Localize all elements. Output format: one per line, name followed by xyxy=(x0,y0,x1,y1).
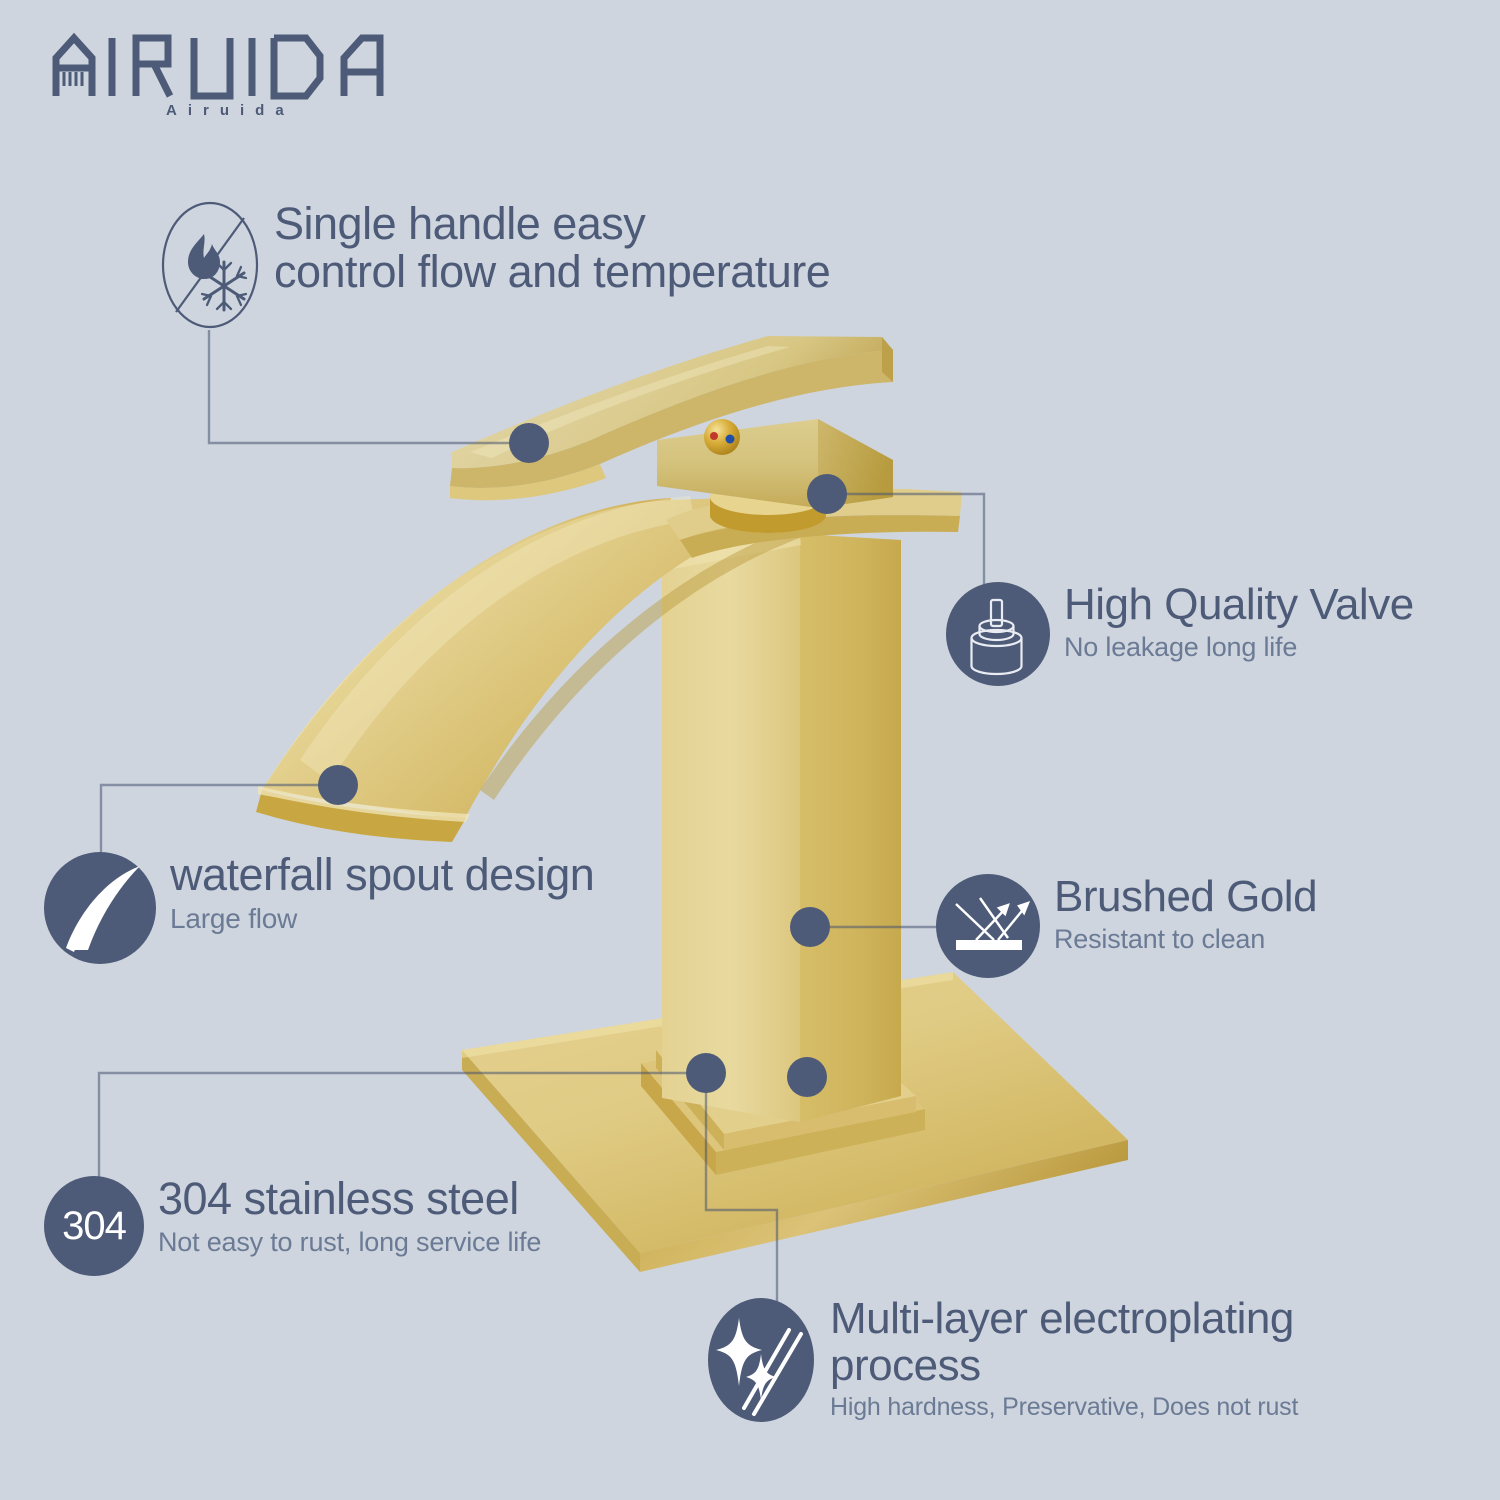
callout-text: High Quality Valve No leakage long life xyxy=(1050,582,1414,662)
wire-steel xyxy=(99,1073,706,1184)
callout-text: waterfall spout design Large flow xyxy=(156,852,594,934)
callout-subtitle: Large flow xyxy=(170,903,594,934)
waterfall-stream-icon xyxy=(44,852,156,969)
callout-anchor-dots xyxy=(318,423,847,1097)
callout-title: Brushed Gold xyxy=(1054,874,1317,920)
304-badge-icon: 304 xyxy=(44,1176,144,1276)
callout-title: waterfall spout design xyxy=(170,852,594,899)
callout-text: 304 stainless steel Not easy to rust, lo… xyxy=(144,1176,541,1257)
callout-single-handle[interactable]: Single handle easy control flow and temp… xyxy=(160,200,830,335)
callout-title: Single handle easy xyxy=(274,200,830,248)
callout-title: 304 stainless steel xyxy=(158,1176,541,1223)
light-reflection-icon xyxy=(936,874,1040,983)
wire-valve xyxy=(827,494,984,586)
hot-cold-temperature-icon xyxy=(160,200,260,335)
callout-waterfall-spout[interactable]: waterfall spout design Large flow xyxy=(44,852,594,969)
wire-handle xyxy=(209,330,524,443)
callout-subtitle: Not easy to rust, long service life xyxy=(158,1227,541,1257)
callout-304-stainless-steel[interactable]: 304 304 stainless steel Not easy to rust… xyxy=(44,1176,541,1276)
callout-brushed-gold[interactable]: Brushed Gold Resistant to clean xyxy=(936,874,1317,983)
callout-subtitle: Resistant to clean xyxy=(1054,924,1317,954)
callout-title-line2: control flow and temperature xyxy=(274,248,830,296)
callout-high-quality-valve[interactable]: High Quality Valve No leakage long life xyxy=(946,582,1414,691)
valve-cartridge-icon xyxy=(946,582,1050,691)
sparkle-shine-icon xyxy=(706,1296,816,1429)
wire-plating xyxy=(706,1073,777,1308)
callout-multilayer-electroplating[interactable]: Multi-layer electroplating process High … xyxy=(706,1296,1430,1429)
infographic-canvas: Airuida xyxy=(0,0,1500,1500)
snowflake-icon xyxy=(202,262,246,310)
callout-text: Multi-layer electroplating process High … xyxy=(816,1296,1430,1421)
callout-title: Multi-layer electroplating process xyxy=(830,1296,1430,1389)
callout-text: Brushed Gold Resistant to clean xyxy=(1040,874,1317,954)
callout-text: Single handle easy control flow and temp… xyxy=(260,200,830,296)
304-badge-label: 304 xyxy=(44,1176,144,1276)
wire-waterfall xyxy=(101,785,336,852)
callout-subtitle: High hardness, Preservative, Does not ru… xyxy=(830,1393,1430,1421)
callout-title: High Quality Valve xyxy=(1064,582,1414,628)
callout-subtitle: No leakage long life xyxy=(1064,632,1414,662)
